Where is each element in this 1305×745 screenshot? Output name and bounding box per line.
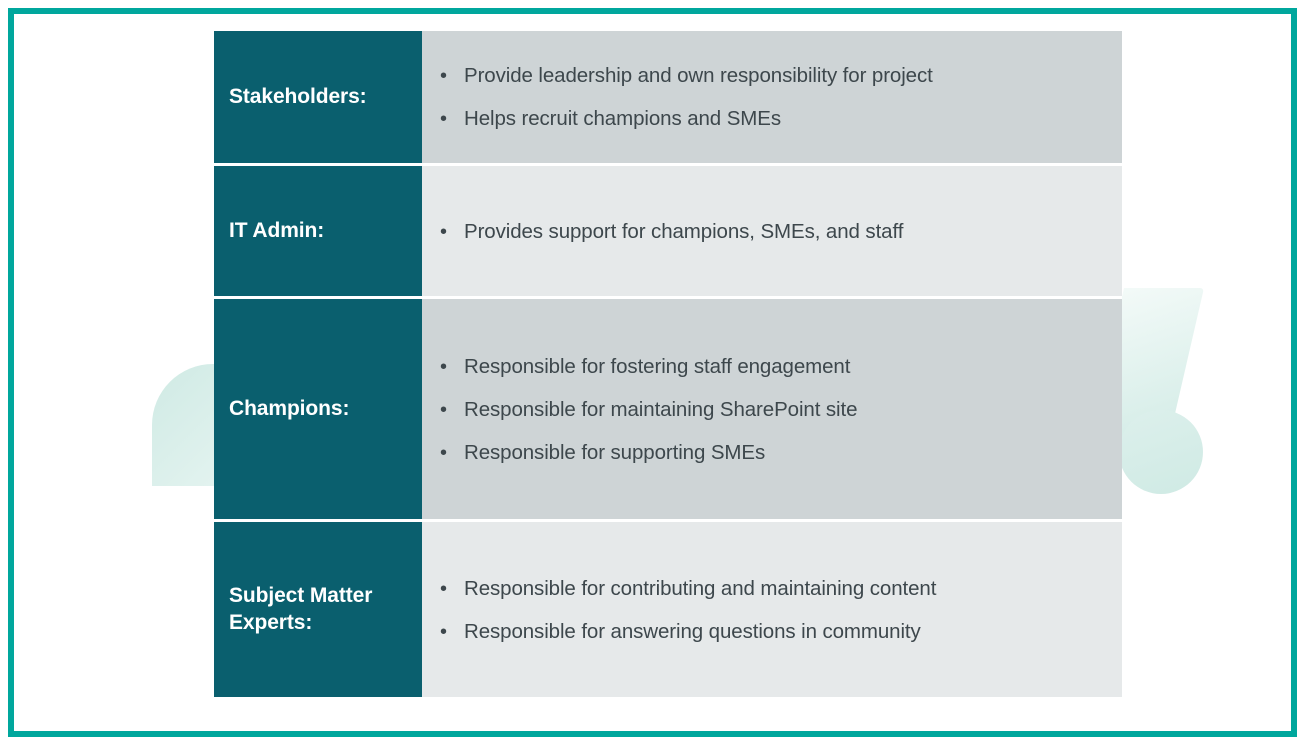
role-label: Champions: — [229, 396, 349, 423]
table-row: Champions: • Responsible for fostering s… — [214, 299, 1122, 522]
role-label-cell-stakeholders: Stakeholders: — [214, 31, 422, 163]
table-row: Stakeholders: • Provide leadership and o… — [214, 31, 1122, 166]
list-item-text: Responsible for maintaining SharePoint s… — [464, 397, 857, 422]
bullet-icon: • — [440, 443, 464, 463]
list-item-text: Responsible for answering questions in c… — [464, 619, 921, 644]
list-item: • Responsible for supporting SMEs — [440, 440, 1104, 465]
role-items-cell-subject-matter-experts: • Responsible for contributing and maint… — [422, 522, 1122, 697]
bullet-icon: • — [440, 66, 464, 86]
slide-canvas: Stakeholders: • Provide leadership and o… — [0, 0, 1305, 745]
list-item-text: Responsible for contributing and maintai… — [464, 576, 936, 601]
list-item: • Responsible for answering questions in… — [440, 619, 1104, 644]
list-item-text: Provides support for champions, SMEs, an… — [464, 219, 903, 244]
bullet-icon: • — [440, 579, 464, 599]
bullet-icon: • — [440, 357, 464, 377]
role-label-cell-subject-matter-experts: Subject Matter Experts: — [214, 522, 422, 697]
list-item: • Responsible for contributing and maint… — [440, 576, 1104, 601]
bullet-icon: • — [440, 400, 464, 420]
list-item-text: Helps recruit champions and SMEs — [464, 106, 781, 131]
role-items-cell-it-admin: • Provides support for champions, SMEs, … — [422, 166, 1122, 296]
bullet-icon: • — [440, 222, 464, 242]
list-item-text: Provide leadership and own responsibilit… — [464, 63, 933, 88]
role-items-cell-champions: • Responsible for fostering staff engage… — [422, 299, 1122, 519]
role-label-cell-it-admin: IT Admin: — [214, 166, 422, 296]
roles-responsibilities-table: Stakeholders: • Provide leadership and o… — [214, 31, 1122, 697]
list-item: • Helps recruit champions and SMEs — [440, 106, 1104, 131]
table-row: IT Admin: • Provides support for champio… — [214, 166, 1122, 299]
list-item-text: Responsible for supporting SMEs — [464, 440, 765, 465]
bullet-icon: • — [440, 622, 464, 642]
role-label: IT Admin: — [229, 218, 324, 245]
table-row: Subject Matter Experts: • Responsible fo… — [214, 522, 1122, 697]
role-label: Subject Matter Experts: — [229, 583, 414, 637]
list-item: • Provide leadership and own responsibil… — [440, 63, 1104, 88]
bullet-icon: • — [440, 109, 464, 129]
list-item: • Responsible for fostering staff engage… — [440, 354, 1104, 379]
list-item-text: Responsible for fostering staff engageme… — [464, 354, 850, 379]
list-item: • Provides support for champions, SMEs, … — [440, 219, 1104, 244]
role-label: Stakeholders: — [229, 84, 367, 111]
role-items-cell-stakeholders: • Provide leadership and own responsibil… — [422, 31, 1122, 163]
list-item: • Responsible for maintaining SharePoint… — [440, 397, 1104, 422]
decorative-teardrop-right-cap — [1119, 410, 1203, 494]
role-label-cell-champions: Champions: — [214, 299, 422, 519]
